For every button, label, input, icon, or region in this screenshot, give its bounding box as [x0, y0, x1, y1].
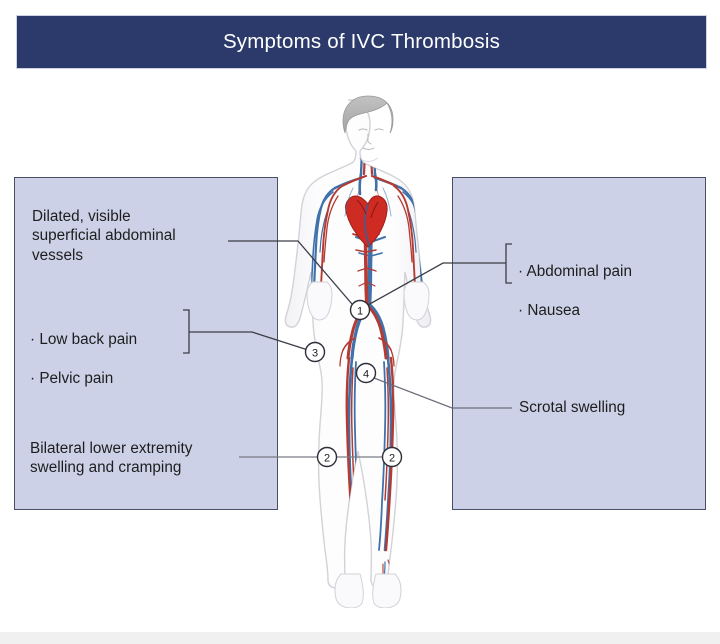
body-silhouette [285, 100, 430, 588]
feet [335, 574, 401, 608]
bullet-abdominal-pain: · Abdominal pain [518, 262, 698, 281]
label-dilated-vessels: Dilated, visible superficial abdominal v… [32, 207, 237, 265]
bullet-low-back-pain: · Low back pain [30, 330, 190, 349]
label-scrotal-swelling: Scrotal swelling [519, 398, 699, 417]
right-symptom-panel [452, 177, 706, 510]
diagram-canvas: Symptoms of IVC Thrombosis [0, 0, 720, 644]
label-abdominal-pain-nausea: · Abdominal pain · Nausea [518, 243, 698, 339]
label-bilateral-lower-extremity: Bilateral lower extremity swelling and c… [30, 439, 260, 478]
bottom-strip [0, 632, 720, 644]
title-banner: Symptoms of IVC Thrombosis [17, 16, 706, 68]
human-vascular-anatomy-figure [283, 92, 453, 608]
bullet-pelvic-pain: · Pelvic pain [30, 369, 190, 388]
page-title: Symptoms of IVC Thrombosis [223, 30, 500, 54]
bullet-nausea: · Nausea [518, 301, 698, 320]
label-low-back-pelvic-pain: · Low back pain · Pelvic pain [30, 311, 190, 407]
